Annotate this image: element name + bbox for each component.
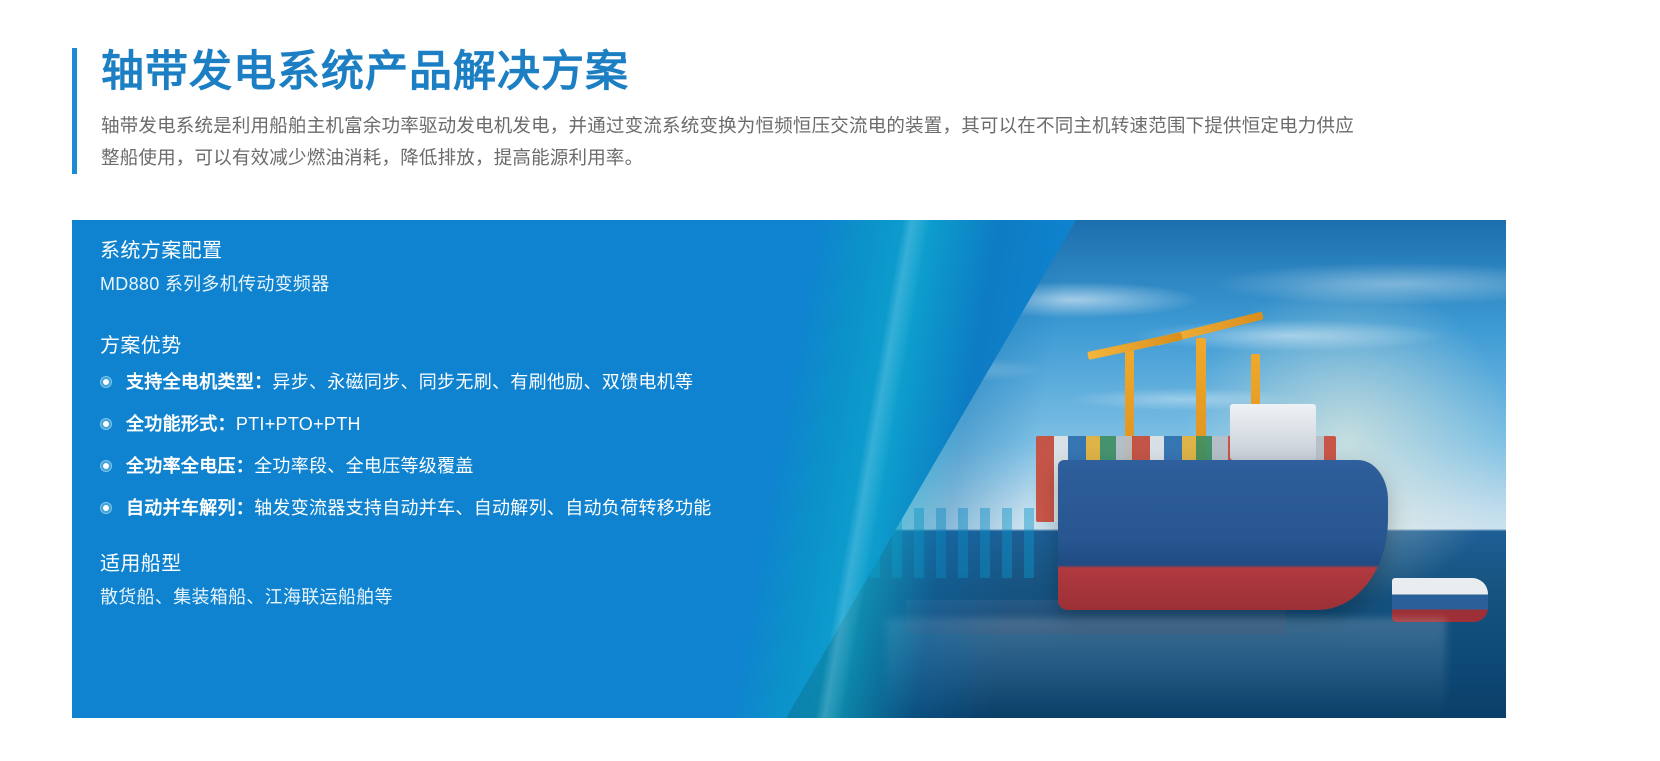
ship-types-heading: 适用船型: [100, 549, 940, 579]
tugboat: [1392, 578, 1488, 622]
list-item: 支持全电机类型：异步、永磁同步、同步无刷、有刷他励、双馈电机等: [100, 369, 940, 395]
page-title: 轴带发电系统产品解决方案: [101, 48, 1372, 96]
solution-panel: 系统方案配置 MD880 系列多机传动变频器 方案优势 支持全电机类型：异步、永…: [72, 220, 1506, 718]
header-block: 轴带发电系统产品解决方案 轴带发电系统是利用船舶主机富余功率驱动发电机发电，并通…: [72, 48, 1372, 174]
advantage-label: 全功能形式：: [126, 414, 236, 434]
crane-arm: [1087, 332, 1183, 360]
spacer: [100, 299, 940, 331]
advantages-section: 方案优势 支持全电机类型：异步、永磁同步、同步无刷、有刷他励、双馈电机等 全功能…: [100, 331, 940, 521]
bullet-dot-icon: [100, 376, 112, 388]
config-section: 系统方案配置 MD880 系列多机传动变频器: [100, 236, 940, 299]
page-root: 轴带发电系统产品解决方案 轴带发电系统是利用船舶主机富余功率驱动发电机发电，并通…: [0, 0, 1660, 761]
advantage-detail: 轴发变流器支持自动并车、自动解列、自动负荷转移功能: [254, 498, 712, 518]
advantage-detail: 全功率段、全电压等级覆盖: [254, 456, 474, 476]
advantage-label: 全功率全电压：: [126, 456, 254, 476]
advantage-detail: PTI+PTO+PTH: [236, 414, 361, 434]
spacer: [100, 537, 940, 549]
ship-types-detail: 散货船、集装箱船、江海联运船舶等: [100, 583, 940, 612]
list-item: 自动并车解列：轴发变流器支持自动并车、自动解列、自动负荷转移功能: [100, 495, 940, 521]
ship-bridge: [1230, 404, 1316, 460]
config-heading: 系统方案配置: [100, 236, 940, 266]
ship-types-section: 适用船型 散货船、集装箱船、江海联运船舶等: [100, 549, 940, 612]
list-item: 全功率全电压：全功率段、全电压等级覆盖: [100, 453, 940, 479]
bullet-dot-icon: [100, 502, 112, 514]
advantage-label: 支持全电机类型：: [126, 372, 272, 392]
list-item: 全功能形式：PTI+PTO+PTH: [100, 411, 940, 437]
ship-hull: [1058, 460, 1388, 610]
config-product: MD880 系列多机传动变频器: [100, 270, 940, 299]
bullet-dot-icon: [100, 418, 112, 430]
advantage-detail: 异步、永磁同步、同步无刷、有刷他励、双馈电机等: [272, 372, 693, 392]
panel-content: 系统方案配置 MD880 系列多机传动变频器 方案优势 支持全电机类型：异步、永…: [100, 236, 940, 612]
advantages-heading: 方案优势: [100, 331, 940, 361]
advantages-list: 支持全电机类型：异步、永磁同步、同步无刷、有刷他励、双馈电机等 全功能形式：PT…: [100, 369, 940, 521]
bullet-dot-icon: [100, 460, 112, 472]
advantage-label: 自动并车解列：: [126, 498, 254, 518]
page-description: 轴带发电系统是利用船舶主机富余功率驱动发电机发电，并通过变流系统变换为恒频恒压交…: [101, 110, 1372, 174]
